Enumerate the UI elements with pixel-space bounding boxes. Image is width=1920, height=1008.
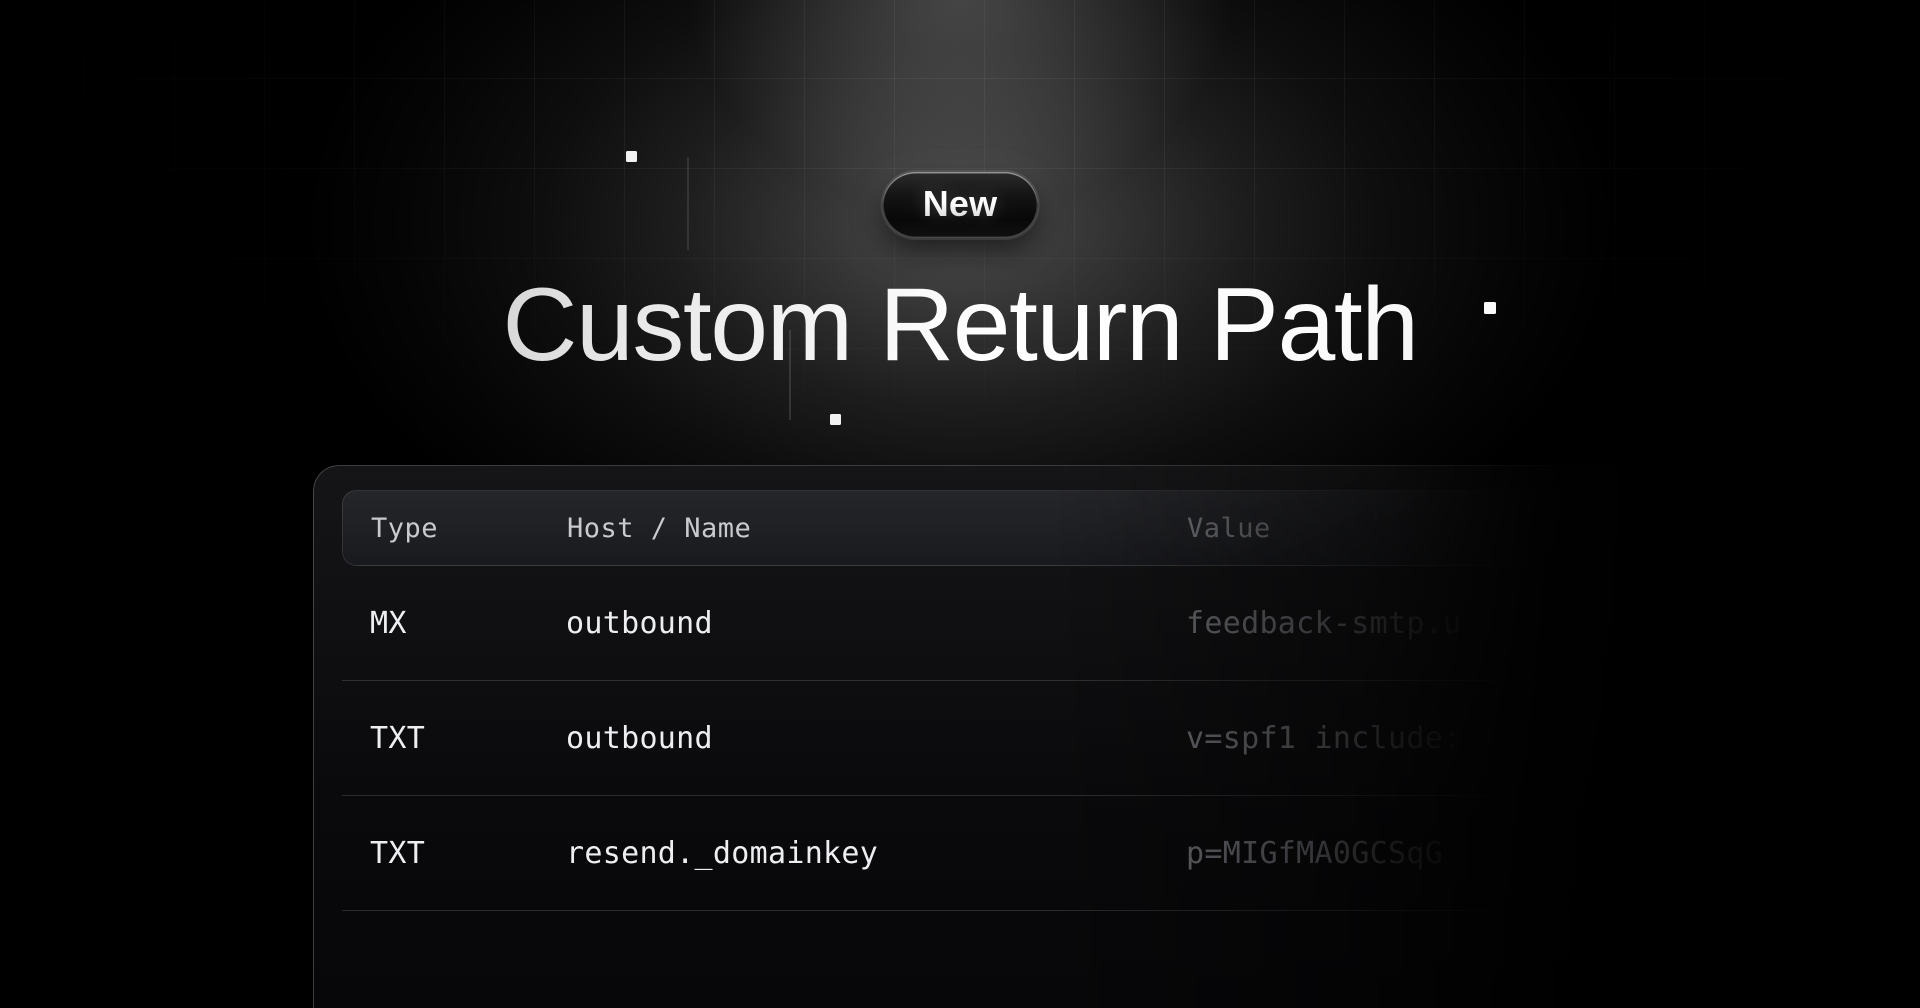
dns-records-card-body: Type Host / Name Value MX outbound feedb… — [314, 466, 1652, 911]
cell-host: outbound — [566, 606, 1186, 641]
cell-value: v=spf1 include: — [1186, 721, 1596, 756]
dns-records-card: Type Host / Name Value MX outbound feedb… — [313, 465, 1653, 1008]
new-badge-pill: New — [883, 172, 1038, 238]
spotlight-core — [600, 0, 1320, 290]
column-header-host: Host / Name — [567, 513, 1187, 544]
circuit-trace-left — [600, 90, 688, 250]
table-header-row: Type Host / Name Value — [342, 490, 1624, 566]
cell-host: resend._domainkey — [566, 836, 1186, 871]
new-badge-label: New — [923, 186, 998, 222]
page-title: Custom Return Path — [0, 268, 1920, 382]
table-row[interactable]: MX outbound feedback-smtp.u — [342, 566, 1624, 681]
cell-value: p=MIGfMA0GCSqG — [1186, 836, 1596, 871]
cell-type: MX — [370, 606, 566, 641]
hero-stage: New Custom Return Path Type Host / Name … — [0, 0, 1920, 1008]
table-row[interactable]: TXT outbound v=spf1 include: — [342, 681, 1624, 796]
column-header-type: Type — [371, 513, 567, 544]
cell-type: TXT — [370, 836, 566, 871]
cell-type: TXT — [370, 721, 566, 756]
column-header-value: Value — [1187, 513, 1595, 544]
table-row[interactable]: TXT resend._domainkey p=MIGfMA0GCSqG — [342, 796, 1624, 911]
dns-records-table: Type Host / Name Value MX outbound feedb… — [342, 490, 1624, 911]
new-badge: New — [883, 172, 1038, 238]
cell-host: outbound — [566, 721, 1186, 756]
cell-value: feedback-smtp.u — [1186, 606, 1596, 641]
